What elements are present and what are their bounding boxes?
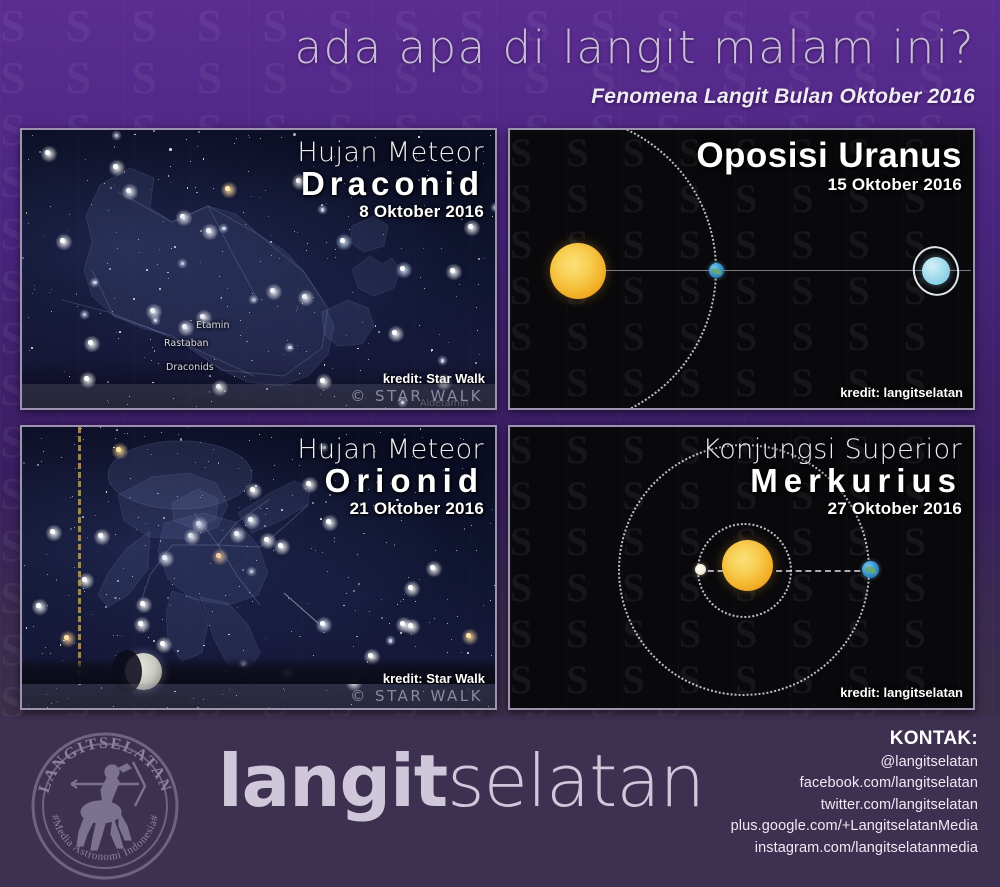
- heading-date: 8 Oktober 2016: [297, 202, 484, 222]
- contact-twitter[interactable]: twitter.com/langitselatan: [598, 795, 978, 816]
- heading-date: 21 Oktober 2016: [297, 499, 484, 519]
- earth-body: [709, 263, 724, 278]
- label-etamin: Etamin: [196, 320, 229, 331]
- brand-bold: langit: [218, 739, 447, 823]
- heading-merkurius: Konjungsi Superior Merkurius 27 Oktober …: [703, 435, 963, 519]
- heading-line2: Draconid: [297, 166, 484, 201]
- heading-orionid: Hujan Meteor Orionid 21 Oktober 2016: [297, 435, 484, 519]
- heading-date: 15 Oktober 2016: [696, 175, 962, 195]
- panel-draconid[interactable]: Etamin Rastaban Draconids Nodus Secundus…: [20, 128, 497, 410]
- earth-body: [862, 561, 879, 578]
- poster-root: SSSSSSSSSSSSSSSSSSSSSSSSSSSSSSSSSSSSSSSS…: [0, 0, 1000, 887]
- uranus-body: [922, 257, 950, 285]
- starwalk-watermark-bar: © STAR WALK: [22, 684, 495, 708]
- contact-block: KONTAK: @langitselatan facebook.com/lang…: [598, 728, 978, 859]
- contact-instagram[interactable]: instagram.com/langitselatanmedia: [598, 838, 978, 859]
- heading-line2: Orionid: [297, 463, 484, 498]
- label-rastaban: Rastaban: [164, 338, 209, 349]
- credit-merkurius: kredit: langitselatan: [840, 685, 963, 700]
- heading-line2: Merkurius: [703, 463, 963, 498]
- starwalk-watermark-bar: © STAR WALK: [22, 384, 495, 408]
- heading-date: 27 Oktober 2016: [703, 499, 963, 519]
- mercury-body: [695, 564, 706, 575]
- heading-line1: Hujan Meteor: [297, 435, 484, 464]
- panel-orionid[interactable]: Planet Nine Rigel Bellatrix ORION LEPUS …: [20, 425, 497, 710]
- page-subtitle: Fenomena Langit Bulan Oktober 2016: [0, 85, 975, 109]
- heading-draconid: Hujan Meteor Draconid 8 Oktober 2016: [297, 138, 484, 222]
- heading-line1: Konjungsi Superior: [703, 435, 963, 464]
- uranus-group: [913, 248, 959, 294]
- heading-uranus: Oposisi Uranus 15 Oktober 2016: [696, 138, 962, 195]
- heading-line1: Hujan Meteor: [297, 138, 484, 167]
- label-draconids: Draconids: [166, 362, 214, 373]
- langitselatan-seal: LANGITSELATAN #Media Astronomi Indonesia…: [27, 728, 183, 884]
- contact-title: KONTAK:: [598, 728, 978, 750]
- contact-googleplus[interactable]: plus.google.com/+LangitselatanMedia: [598, 816, 978, 837]
- sun-body: [550, 243, 606, 299]
- starwalk-watermark-text: © STAR WALK: [350, 387, 483, 405]
- panel-merkurius[interactable]: SSSSSSSSSSSSSSSSSSSSSSSSSSSSSSSSSSSSSSSS…: [508, 425, 975, 710]
- starwalk-watermark-text: © STAR WALK: [350, 687, 483, 705]
- heading-line1: Oposisi Uranus: [696, 137, 962, 174]
- panel-uranus[interactable]: SSSSSSSSSSSSSSSSSSSSSSSSSSSSSSSSSSSSSSSS…: [508, 128, 975, 410]
- credit-uranus: kredit: langitselatan: [840, 385, 963, 400]
- contact-handle[interactable]: @langitselatan: [598, 752, 978, 773]
- sun-body: [722, 540, 773, 591]
- contact-facebook[interactable]: facebook.com/langitselatan: [598, 773, 978, 794]
- page-title: ada apa di langit malam ini?: [0, 24, 975, 71]
- ecliptic-line: [78, 427, 81, 685]
